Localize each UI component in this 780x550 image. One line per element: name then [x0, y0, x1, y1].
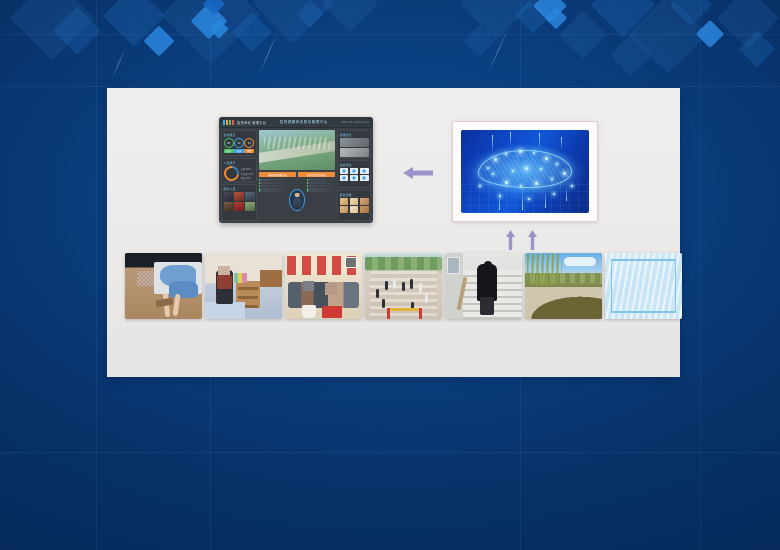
headboard-shape	[260, 270, 282, 287]
device-icon[interactable]	[350, 168, 359, 174]
data-row[interactable]	[259, 190, 287, 192]
face-blur-mosaic	[325, 283, 337, 295]
device-icon[interactable]	[340, 175, 349, 181]
staff-thumbnail-grid[interactable]	[224, 192, 255, 211]
gauge-chip: 在床	[234, 149, 244, 153]
tree-line	[365, 257, 442, 270]
dashboard-left-column: 运营概览 86 在院 42 在床 15	[221, 130, 257, 221]
meal-thumbnail[interactable]	[360, 206, 369, 213]
seated-group	[288, 282, 359, 308]
gauge-value: 42	[234, 138, 244, 148]
staff-thumbnail[interactable]	[224, 202, 234, 211]
willow-branches	[527, 254, 562, 286]
data-row[interactable]	[307, 179, 335, 181]
alert-list-rows[interactable]	[307, 179, 335, 221]
data-tab-bar[interactable]: 健康监测数据记录 实时告警信息列表	[259, 172, 335, 177]
placeholder-frame	[611, 259, 676, 313]
data-row[interactable]	[259, 188, 287, 190]
device-icon[interactable]	[350, 175, 359, 181]
staff-thumbnail[interactable]	[245, 192, 255, 201]
meal-panel-title: 膳食管理	[340, 193, 369, 197]
tab-alert-list[interactable]: 实时告警信息列表	[298, 172, 335, 177]
data-rows-with-avatar	[259, 179, 335, 221]
barrier-rail	[387, 308, 422, 311]
data-row[interactable]	[259, 182, 287, 184]
tab-health-records[interactable]: 健康监测数据记录	[259, 172, 296, 177]
arrow-up-right-icon	[527, 229, 538, 251]
photo-elderly-man-climbing-stairs[interactable]	[445, 253, 522, 319]
overview-panel[interactable]: 运营概览 86 在院 42 在床 15	[221, 130, 257, 156]
gauge-chip: 在院	[224, 149, 234, 153]
photo-resident-seated-in-bedroom[interactable]	[205, 253, 282, 319]
camera-feed[interactable]	[340, 138, 369, 147]
gauge-chip: 预警	[244, 149, 254, 153]
dashboard-right-column: 视频监控 设备状态	[337, 130, 371, 221]
device-icon[interactable]	[360, 168, 369, 174]
meal-thumbnail[interactable]	[340, 198, 349, 205]
bedsheet-shape	[205, 302, 245, 319]
data-row[interactable]	[259, 185, 287, 187]
staff-panel-title: 服务人员	[224, 187, 255, 191]
person-figure	[419, 283, 422, 292]
face-blur-mosaic	[218, 266, 230, 275]
slide-canvas: 智慧养老 管理平台 智慧健康养老服务管理平台 2021-05-18 09:24:…	[0, 0, 780, 550]
data-row[interactable]	[259, 179, 287, 181]
gauge-value: 15	[244, 138, 254, 148]
window-shape	[447, 257, 459, 274]
lake-and-bank	[525, 287, 602, 319]
staff-thumbnail[interactable]	[245, 202, 255, 211]
photo-outdoor-plaza-group-activity[interactable]	[365, 253, 442, 319]
ai-engine-card[interactable]	[452, 121, 598, 222]
device-panel-title: 设备状态	[340, 163, 369, 167]
white-bucket	[302, 305, 316, 318]
health-record-rows[interactable]	[259, 179, 287, 221]
person-figure	[376, 289, 379, 298]
meal-thumbnail[interactable]	[350, 198, 359, 205]
platform-logo-icon	[223, 120, 234, 125]
staff-panel[interactable]: 服务人员	[221, 184, 257, 221]
ability-donut-chart[interactable]	[221, 163, 241, 182]
gauge-group: 86 在院 42 在床 15 预警	[224, 138, 255, 153]
meal-panel[interactable]: 膳食管理	[337, 190, 371, 221]
red-gift-box	[322, 306, 342, 318]
arrow-left-icon	[401, 165, 435, 181]
management-platform-dashboard[interactable]: 智慧养老 管理平台 智慧健康养老服务管理平台 2021-05-18 09:24:…	[219, 117, 373, 223]
donut-legend: 自理 58% 半自理 27% 失能 15%	[241, 167, 255, 181]
legend-item: 半自理 27%	[241, 172, 255, 176]
camera-feed-list[interactable]	[340, 138, 369, 157]
meal-thumbnail[interactable]	[350, 206, 359, 213]
person-figure	[385, 281, 388, 290]
face-blur-mosaic	[137, 271, 154, 286]
dashboard-body: 运营概览 86 在院 42 在床 15	[219, 128, 373, 223]
device-icon[interactable]	[360, 175, 369, 181]
skirt-shape	[169, 281, 198, 298]
camera-feed[interactable]	[340, 148, 369, 157]
camera-panel-title: 视频监控	[340, 133, 369, 137]
staff-thumbnail[interactable]	[224, 192, 234, 201]
dashboard-header: 智慧养老 管理平台 智慧健康养老服务管理平台 2021-05-18 09:24:…	[219, 117, 373, 128]
staff-thumbnail[interactable]	[234, 192, 244, 201]
data-row[interactable]	[307, 185, 335, 187]
device-panel[interactable]: 设备状态	[337, 160, 371, 188]
person-figure	[402, 282, 405, 291]
campus-3d-scene-view[interactable]	[259, 130, 335, 170]
device-icon[interactable]	[340, 168, 349, 174]
photo-blank-light-blue-placeholder[interactable]	[605, 253, 682, 319]
bottles-shape	[234, 273, 246, 284]
photo-park-lake-with-willow-trees[interactable]	[525, 253, 602, 319]
arrow-up-left-icon	[505, 229, 516, 251]
staff-thumbnail[interactable]	[234, 202, 244, 211]
camera-panel[interactable]: 视频监控	[337, 130, 371, 158]
meal-thumbnail[interactable]	[340, 206, 349, 213]
man-head	[484, 261, 492, 268]
person-figure	[382, 299, 385, 308]
face-blur-mosaic	[303, 281, 314, 292]
gauge-value: 86	[224, 138, 234, 148]
man-body	[477, 264, 497, 301]
dashboard-title: 智慧健康养老服务管理平台	[266, 120, 341, 125]
donut-chart-row: 自理 58% 半自理 27% 失能 15%	[224, 166, 255, 181]
statistics-panel[interactable]: 人员统计 自理 58% 半自理 27% 失能 15%	[221, 158, 257, 182]
vest-shape	[217, 275, 232, 288]
dashboard-center-column: 健康监测数据记录 实时告警信息列表	[259, 130, 335, 221]
wall-picture	[345, 257, 357, 268]
gauge-in-bed[interactable]: 42 在床	[234, 138, 244, 153]
person-figure	[393, 279, 396, 288]
person-figure	[425, 294, 428, 303]
data-row[interactable]	[307, 182, 335, 184]
content-panel: 智慧养老 管理平台 智慧健康养老服务管理平台 2021-05-18 09:24:…	[107, 88, 680, 377]
data-row[interactable]	[307, 190, 335, 192]
scenario-photo-strip	[125, 253, 685, 319]
dashboard-clock: 2021-05-18 09:24:31	[341, 120, 369, 124]
statistics-panel-title: 人员统计	[224, 161, 255, 165]
photo-indoor-festive-activity-room[interactable]	[285, 253, 362, 319]
device-icon-grid[interactable]	[340, 168, 369, 181]
gauge-alerts[interactable]: 15 预警	[244, 138, 254, 153]
man-legs	[480, 297, 494, 315]
dashboard-logo-text: 智慧养老 管理平台	[237, 120, 266, 125]
photo-caregiver-assisting-resident-bed[interactable]	[125, 253, 202, 319]
resident-avatar[interactable]	[289, 189, 305, 211]
meal-thumbnail[interactable]	[360, 198, 369, 205]
data-row[interactable]	[307, 188, 335, 190]
ai-brain-network-image	[461, 130, 589, 213]
legend-item: 失能 15%	[241, 176, 255, 180]
gauge-in-residence[interactable]: 86 在院	[224, 138, 234, 153]
legend-item: 自理 58%	[241, 167, 255, 171]
cloud-shape	[564, 257, 596, 266]
meal-thumbnail-grid[interactable]	[340, 198, 369, 213]
person-figure	[410, 279, 413, 288]
overview-panel-title: 运营概览	[224, 133, 255, 137]
